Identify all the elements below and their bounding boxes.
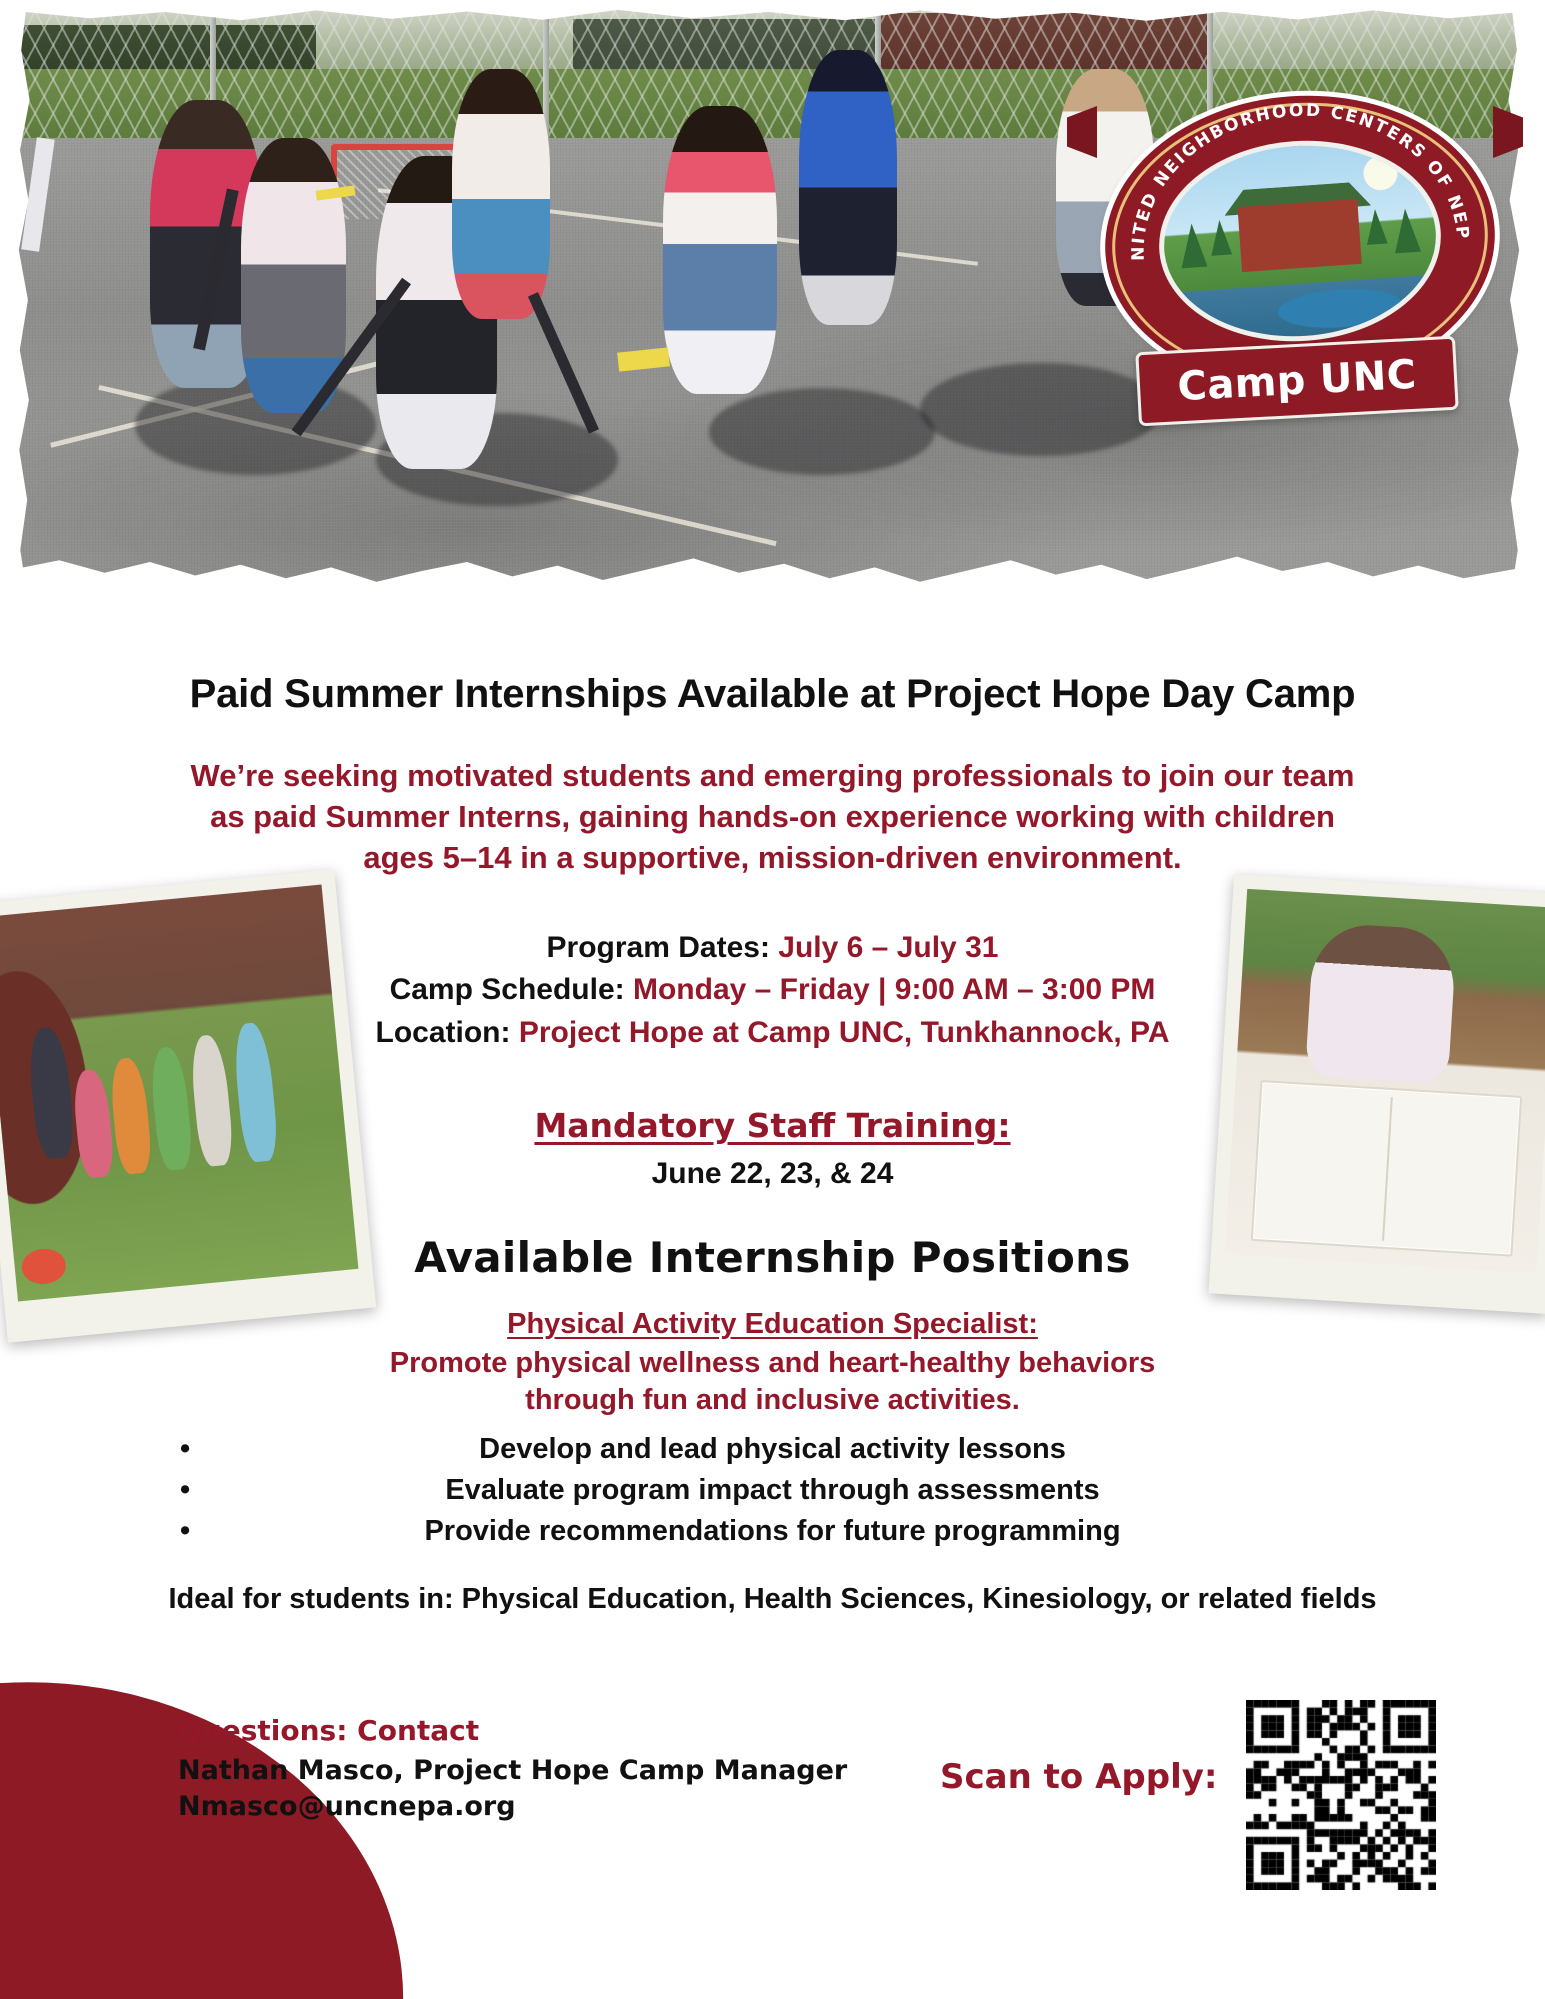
list-item: • Develop and lead physical activity les… xyxy=(0,1429,1545,1470)
camper-figure xyxy=(241,138,347,413)
role-desc-line-1: Promote physical wellness and heart-heal… xyxy=(300,1345,1245,1382)
fact-value: Monday – Friday | 9:00 AM – 3:00 PM xyxy=(633,973,1155,1006)
contact-block: Questions: Contact Nathan Masco, Project… xyxy=(178,1712,847,1825)
fact-label: Camp Schedule: xyxy=(390,973,625,1006)
contact-heading: Questions: Contact xyxy=(178,1712,847,1749)
bullet-icon: • xyxy=(180,1470,190,1511)
cabin-icon xyxy=(1238,199,1362,272)
player-shadow xyxy=(709,388,936,476)
qr-canvas[interactable] xyxy=(1246,1700,1436,1890)
role-description: Promote physical wellness and heart-heal… xyxy=(0,1345,1545,1419)
intro-line-2: as paid Summer Interns, gaining hands-on… xyxy=(150,796,1395,837)
intro-line-3: ages 5–14 in a supportive, mission-drive… xyxy=(150,837,1395,878)
role-desc-line-2: through fun and inclusive activities. xyxy=(300,1382,1245,1419)
fact-label: Location: xyxy=(376,1016,511,1049)
page-title: Paid Summer Internships Available at Pro… xyxy=(0,672,1545,717)
tree-icon xyxy=(1392,208,1421,254)
hero-photo: UNITED NEIGHBORHOOD CENTERS OF NEPA Camp… xyxy=(0,0,1545,660)
staff-training-block: Mandatory Staff Training: June 22, 23, &… xyxy=(0,1106,1545,1191)
role-title: Physical Activity Education Specialist: xyxy=(0,1308,1545,1341)
fact-location: Location: Project Hope at Camp UNC, Tunk… xyxy=(0,1012,1545,1055)
list-item: • Provide recommendations for future pro… xyxy=(0,1511,1545,1552)
counselor-figure xyxy=(799,50,897,325)
duty-text: Provide recommendations for future progr… xyxy=(424,1515,1120,1547)
contact-email: Nmasco@uncnepa.org xyxy=(178,1789,847,1825)
duty-text: Develop and lead physical activity lesso… xyxy=(479,1433,1066,1465)
camp-unc-banner-label: Camp UNC xyxy=(1176,352,1417,410)
intro-line-1: We’re seeking motivated students and eme… xyxy=(150,755,1395,796)
qr-code[interactable] xyxy=(1246,1700,1436,1890)
contact-name: Nathan Masco, Project Hope Camp Manager xyxy=(178,1753,847,1789)
camper-figure xyxy=(663,106,776,394)
camper-figure xyxy=(452,69,550,319)
fact-value: Project Hope at Camp UNC, Tunkhannock, P… xyxy=(519,1016,1170,1049)
role-block: Physical Activity Education Specialist: … xyxy=(0,1308,1545,1419)
program-facts: Program Dates: July 6 – July 31 Camp Sch… xyxy=(0,927,1545,1055)
fact-camp-schedule: Camp Schedule: Monday – Friday | 9:00 AM… xyxy=(0,969,1545,1012)
positions-heading: Available Internship Positions xyxy=(0,1233,1545,1282)
ideal-students-note: Ideal for students in: Physical Educatio… xyxy=(0,1581,1545,1619)
camp-unc-banner: Camp UNC xyxy=(1135,336,1458,427)
staff-training-title: Mandatory Staff Training: xyxy=(0,1106,1545,1145)
tree-icon xyxy=(1209,220,1232,257)
fact-program-dates: Program Dates: July 6 – July 31 xyxy=(0,927,1545,970)
flyer-body: Paid Summer Internships Available at Pro… xyxy=(0,650,1545,1618)
bullet-icon: • xyxy=(180,1429,190,1470)
list-item: • Evaluate program impact through assess… xyxy=(0,1470,1545,1511)
duty-text: Evaluate program impact through assessme… xyxy=(445,1474,1099,1506)
scan-to-apply-label: Scan to Apply: xyxy=(940,1757,1217,1797)
camp-unc-logo: UNITED NEIGHBORHOOD CENTERS OF NEPA Camp… xyxy=(1093,96,1497,426)
staff-training-dates: June 22, 23, & 24 xyxy=(0,1157,1545,1191)
intro-paragraph: We’re seeking motivated students and eme… xyxy=(0,755,1545,879)
duties-list: • Develop and lead physical activity les… xyxy=(0,1429,1545,1553)
fact-value: July 6 – July 31 xyxy=(778,931,998,964)
fact-label: Program Dates: xyxy=(547,931,770,964)
bullet-icon: • xyxy=(180,1511,190,1552)
tree-icon xyxy=(1364,209,1387,246)
tree-icon xyxy=(1179,223,1208,269)
